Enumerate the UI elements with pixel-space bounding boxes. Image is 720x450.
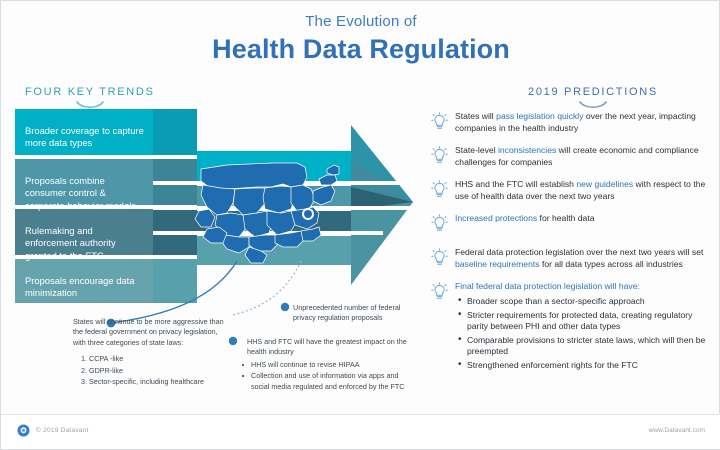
callout-hhs: HHS and FTC will have the greatest impac…: [239, 337, 414, 393]
list-item: Strengthened enforcement rights for the …: [467, 360, 709, 371]
footer-bar: © 2019 Datavant www.Datavant.com: [1, 414, 720, 449]
lightbulb-icon: [431, 179, 455, 204]
datavant-logo-icon: [17, 424, 30, 437]
callout-states: States will continue to be more aggressi…: [73, 317, 231, 388]
callout-proposals-text: Unprecedented number of federal privacy …: [293, 303, 411, 324]
prediction-text-part: Federal data protection legislation over…: [455, 247, 703, 257]
page-title: The Evolution of Health Data Regulation: [1, 13, 720, 65]
prediction-text: State-level inconsistencies will create …: [455, 145, 709, 169]
lightbulb-icon: [431, 111, 455, 136]
prediction-row[interactable]: Federal data protection legislation over…: [431, 247, 709, 272]
lightbulb-icon: [431, 145, 455, 170]
list-item: HHS will continue to revise HIPAA: [250, 360, 414, 370]
prediction-highlight: pass legislation quickly: [496, 111, 583, 121]
connector-dot-proposals: [281, 303, 289, 311]
copyright-text: © 2019 Datavant: [36, 427, 89, 434]
callout-states-intro: States will continue to be more aggressi…: [73, 317, 231, 348]
connector-line-dotted-proposals: [233, 261, 301, 315]
prediction-text-part: HHS and the FTC will establish: [455, 179, 576, 189]
footer-left-group: © 2019 Datavant: [17, 424, 89, 437]
prediction-row[interactable]: HHS and the FTC will establish new guide…: [431, 179, 709, 204]
prediction-row[interactable]: Increased protections for health data: [431, 213, 709, 238]
list-item: CCPA -like: [89, 354, 231, 364]
list-item: Sector-specific, including healthcare: [89, 377, 231, 387]
prediction-highlight: new guidelines: [576, 179, 633, 189]
prediction-highlight: Final federal data protection legislatio…: [455, 281, 640, 291]
list-item: Collection and use of information via ap…: [250, 371, 414, 392]
list-item: Broader scope than a sector-specific app…: [467, 296, 709, 307]
callout-hhs-intro: HHS and FTC will have the greatest impac…: [239, 337, 414, 358]
prediction-text: Increased protections for health data: [455, 213, 709, 225]
lightbulb-icon: [431, 281, 455, 306]
list-item: Comparable provisions to stricter state …: [467, 335, 709, 358]
lightbulb-icon: [431, 247, 455, 272]
prediction-text: States will pass legislation quickly ove…: [455, 111, 709, 135]
prediction-text-part: States will: [455, 111, 496, 121]
prediction-highlight: Increased protections: [455, 213, 537, 223]
trends-heading-label: FOUR KEY TRENDS: [25, 86, 155, 98]
connector-line-solid: [111, 261, 237, 323]
title-line-1: The Evolution of: [1, 13, 720, 31]
prediction-text: HHS and the FTC will establish new guide…: [455, 179, 709, 203]
prediction-row[interactable]: Final federal data protection legislatio…: [431, 281, 709, 374]
website-url: www.Datavant.com: [649, 427, 705, 434]
callout-proposals: Unprecedented number of federal privacy …: [293, 303, 411, 324]
predictions-list: States will pass legislation quickly ove…: [431, 111, 709, 383]
predictions-heading-label: 2019 PREDICTIONS: [528, 86, 658, 98]
swoosh-divider-icon: [578, 101, 608, 109]
callout-hhs-list: HHS will continue to revise HIPAA Collec…: [239, 360, 414, 392]
prediction-text: Federal data protection legislation over…: [455, 247, 709, 271]
title-line-2: Health Data Regulation: [1, 33, 720, 65]
section-heading-predictions: 2019 PREDICTIONS: [528, 86, 658, 109]
list-item: Stricter requirements for protected data…: [467, 310, 709, 333]
prediction-highlight: baseline requirements: [455, 259, 540, 269]
prediction-text-part: for health data: [537, 213, 594, 223]
prediction-row[interactable]: States will pass legislation quickly ove…: [431, 111, 709, 136]
prediction-text-part: for all data types across all industries: [540, 259, 683, 269]
callout-states-list: CCPA -like GDPR-like Sector-specific, in…: [73, 354, 231, 387]
prediction-row[interactable]: State-level inconsistencies will create …: [431, 145, 709, 170]
prediction-sublist: Broader scope than a sector-specific app…: [455, 296, 709, 372]
prediction-highlight: inconsistencies: [498, 145, 556, 155]
prediction-text: Final federal data protection legislatio…: [455, 281, 709, 374]
infographic-canvas: The Evolution of Health Data Regulation …: [0, 0, 720, 450]
lightbulb-icon: [431, 213, 455, 238]
prediction-text-part: State-level: [455, 145, 498, 155]
list-item: GDPR-like: [89, 366, 231, 376]
